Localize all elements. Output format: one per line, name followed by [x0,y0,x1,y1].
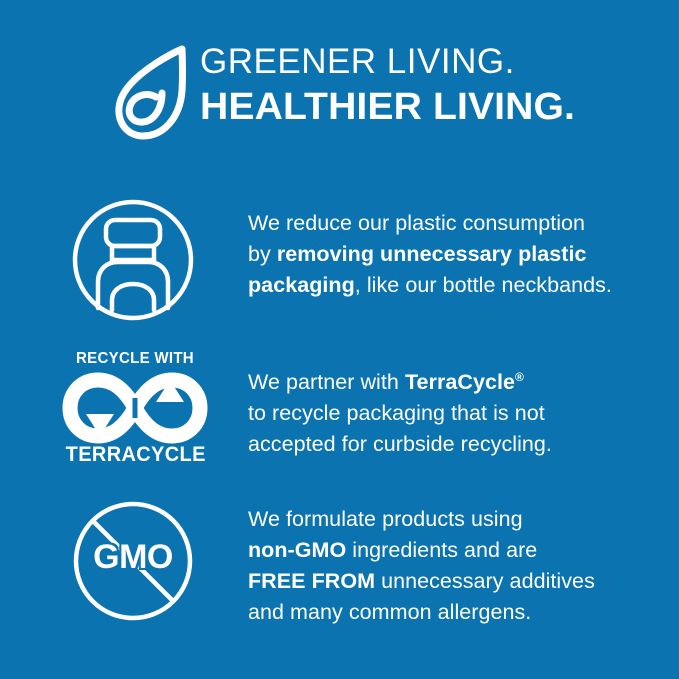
terracycle-bottom-label: TERRACYCLE [66,443,205,467]
header-text-block: GREENER LIVING. HEALTHIER LIVING. [200,40,670,130]
text-line: We formulate products using [248,504,668,535]
terracycle-logo: RECYCLE WITH ® TERRACYCLE [62,348,208,472]
no-gmo-icon: GMO [62,498,204,624]
bottle-neckband-icon [62,196,204,324]
terracycle-top-label: RECYCLE WITH [64,350,206,368]
text-line: to recycle packaging that is not [248,398,668,429]
text-line: We partner with TerraCycle® [248,362,668,398]
text-line: and many common allergens. [248,597,668,628]
headline-line-2: HEALTHIER LIVING. [200,84,679,130]
poster-header: GREENER LIVING. HEALTHIER LIVING. [0,40,679,155]
text-line: by removing unnecessary plastic [248,239,668,270]
feature-text-gmo: We formulate products using non-GMO ingr… [248,504,668,628]
infinity-recycle-icon [62,372,208,444]
feature-row-gmo: GMO We formulate products using non-GMO … [0,496,679,626]
greener-living-infographic: GREENER LIVING. HEALTHIER LIVING. We red… [0,0,679,679]
text-line: FREE FROM unnecessary additives [248,566,668,597]
feature-text-plastic: We reduce our plastic consumption by rem… [248,208,668,301]
text-line: We reduce our plastic consumption [248,208,668,239]
text-line: accepted for curbside recycling. [248,429,668,460]
text-line: non-GMO ingredients and are [248,535,668,566]
feature-row-recycle: RECYCLE WITH ® TERRACYCLE [0,348,679,476]
leaf-icon [112,45,194,141]
feature-text-recycle: We partner with TerraCycle® to recycle p… [248,362,668,460]
feature-row-plastic: We reduce our plastic consumption by rem… [0,196,679,326]
registered-mark: ® [178,432,185,442]
text-line: packaging, like our bottle neckbands. [248,270,668,301]
headline-line-1: GREENER LIVING. [200,40,670,84]
gmo-label: GMO [62,538,204,577]
